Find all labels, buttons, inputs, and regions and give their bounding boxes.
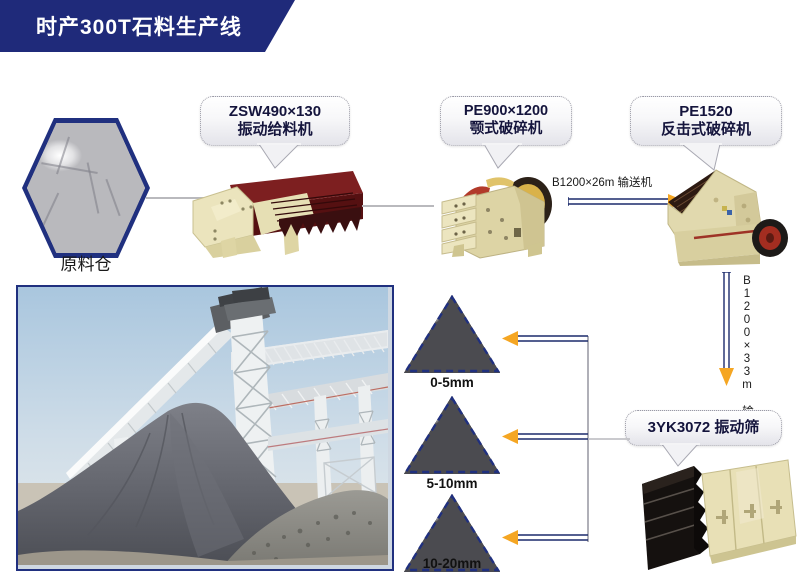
conveyor-vertical-arrow — [718, 272, 736, 390]
diagram-canvas: 时产300T石料生产线 原料仓 ZSW490×130 振动给料机 — [0, 0, 800, 580]
product-pile-5-10mm — [404, 396, 500, 474]
callout-impact-crusher-line1: PE1520 — [679, 103, 732, 121]
callout-jaw-crusher-line1: PE900×1200 — [464, 103, 548, 121]
callout-impact-crusher: PE1520 反击式破碎机 — [630, 96, 782, 146]
screen-to-products-bracket — [490, 330, 630, 548]
raw-material-hexagon — [22, 118, 150, 258]
pile-outline — [404, 295, 500, 373]
callout-impact-crusher-line2: 反击式破碎机 — [661, 121, 751, 139]
impact-crusher-image — [660, 162, 792, 266]
product-label-10-20mm: 10-20mm — [397, 556, 507, 571]
jaw-crusher-image — [428, 158, 556, 266]
product-label-5-10mm: 5-10mm — [397, 476, 507, 491]
raw-material-label: 原料仓 — [22, 250, 150, 275]
vibrating-screen-image — [640, 458, 800, 576]
callout-vibrating-screen-line1: 3YK3072 振动筛 — [648, 419, 760, 437]
callout-jaw-crusher: PE900×1200 颚式破碎机 — [440, 96, 572, 146]
conveyor-horizontal-label: B1200×26m 输送机 — [552, 174, 652, 190]
product-pile-0-5mm — [404, 295, 500, 373]
callout-feeder: ZSW490×130 振动给料机 — [200, 96, 350, 146]
callout-jaw-crusher-line2: 颚式破碎机 — [470, 121, 543, 139]
callout-vibrating-screen: 3YK3072 振动筛 — [625, 410, 782, 446]
title-banner: 时产300T石料生产线 — [0, 0, 295, 52]
callout-feeder-line1: ZSW490×130 — [229, 103, 321, 121]
site-photo-conveyors-stockpiles — [16, 285, 394, 571]
product-label-0-5mm: 0-5mm — [397, 375, 507, 390]
page-title: 时产300T石料生产线 — [36, 11, 242, 41]
pile-outline — [404, 396, 500, 474]
callout-feeder-line2: 振动给料机 — [237, 121, 312, 139]
connector-feeder-to-jaw — [362, 205, 434, 207]
vibrating-feeder-image — [175, 163, 365, 258]
